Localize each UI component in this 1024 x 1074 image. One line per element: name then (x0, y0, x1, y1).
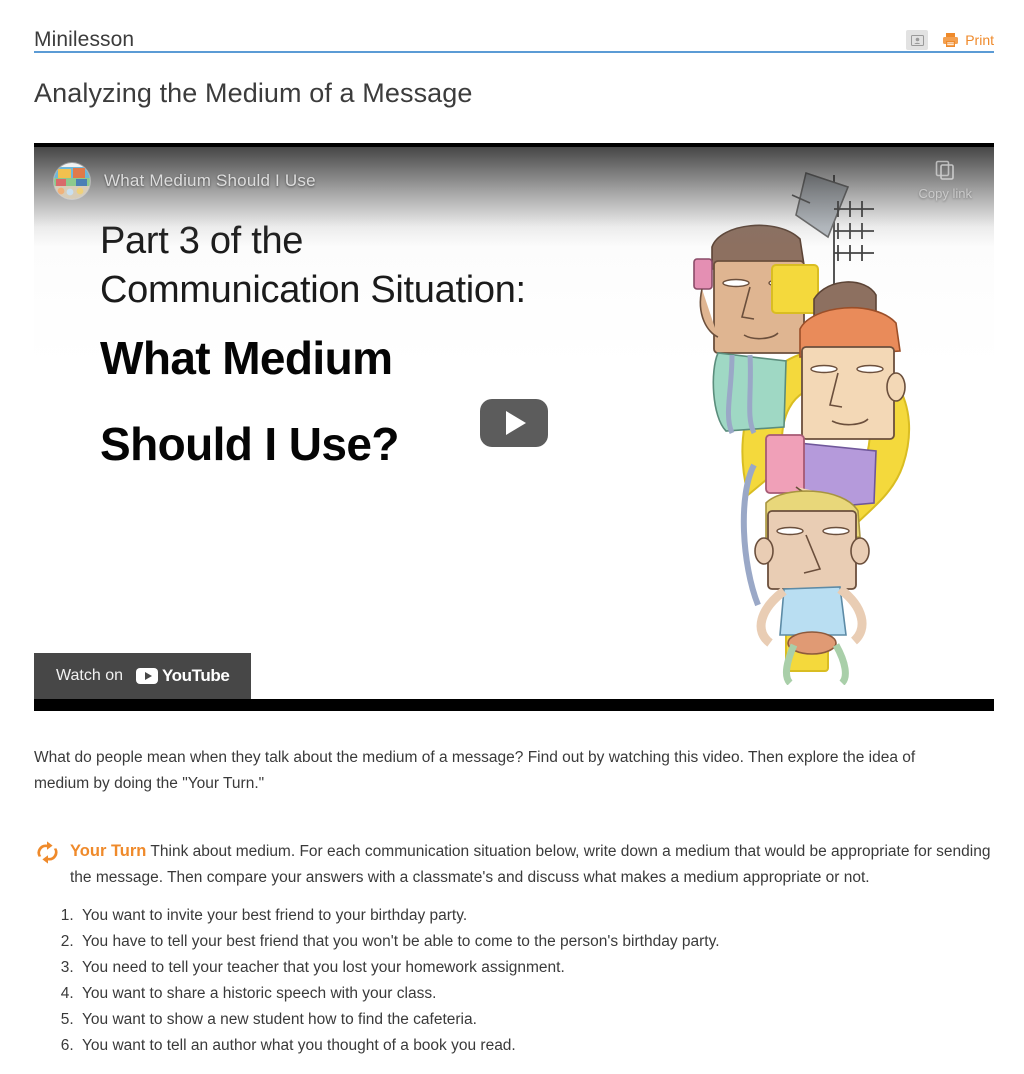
slide-line-4: Should I Use? (100, 413, 526, 475)
minilesson-page: Minilesson Print A (0, 0, 1024, 1074)
task-list: You want to invite your best friend to y… (52, 903, 972, 1059)
header-divider (34, 51, 994, 53)
copy-icon (934, 159, 956, 181)
youtube-play-icon (136, 668, 158, 684)
contact-card-icon[interactable] (906, 30, 928, 50)
watch-on-youtube-button[interactable]: Watch on YouTube (34, 653, 251, 699)
printer-icon (942, 32, 959, 48)
your-turn-text: Your Turn Think about medium. For each c… (70, 838, 994, 891)
page-title: Minilesson (34, 28, 134, 52)
video-slide-text: Part 3 of the Communication Situation: W… (100, 217, 526, 475)
list-item: You want to show a new student how to fi… (78, 1007, 972, 1033)
list-item: You have to tell your best friend that y… (78, 929, 972, 955)
youtube-wordmark: YouTube (162, 666, 229, 686)
list-item: You want to tell an author what you thou… (78, 1033, 972, 1059)
list-item: You need to tell your teacher that you l… (78, 955, 972, 981)
intro-paragraph: What do people mean when they talk about… (34, 745, 970, 797)
play-button[interactable] (480, 399, 548, 447)
header-tools: Print (906, 30, 994, 52)
refresh-cycle-icon (34, 838, 70, 891)
list-item: You want to share a historic speech with… (78, 981, 972, 1007)
slide-line-2: Communication Situation: (100, 265, 526, 315)
copy-link-button[interactable]: Copy link (919, 159, 972, 201)
channel-avatar[interactable] (54, 163, 90, 199)
video-title[interactable]: What Medium Should I Use (104, 171, 316, 191)
print-label: Print (965, 32, 994, 48)
youtube-logo: YouTube (136, 666, 229, 686)
print-button[interactable]: Print (942, 32, 994, 48)
page-header: Minilesson Print (34, 16, 994, 52)
video-header: What Medium Should I Use (54, 163, 316, 199)
copy-link-label: Copy link (919, 186, 972, 201)
your-turn-instructions: Think about medium. For each communicati… (70, 843, 990, 886)
your-turn-label: Your Turn (70, 842, 146, 860)
your-turn-block: Your Turn Think about medium. For each c… (34, 838, 994, 891)
slide-line-3: What Medium (100, 327, 526, 389)
list-item: You want to invite your best friend to y… (78, 903, 972, 929)
video-thumbnail: Part 3 of the Communication Situation: W… (34, 147, 994, 699)
video-player[interactable]: Part 3 of the Communication Situation: W… (34, 143, 994, 711)
watch-on-label: Watch on (56, 667, 123, 685)
lesson-title: Analyzing the Medium of a Message (34, 76, 473, 110)
play-icon (506, 411, 526, 435)
